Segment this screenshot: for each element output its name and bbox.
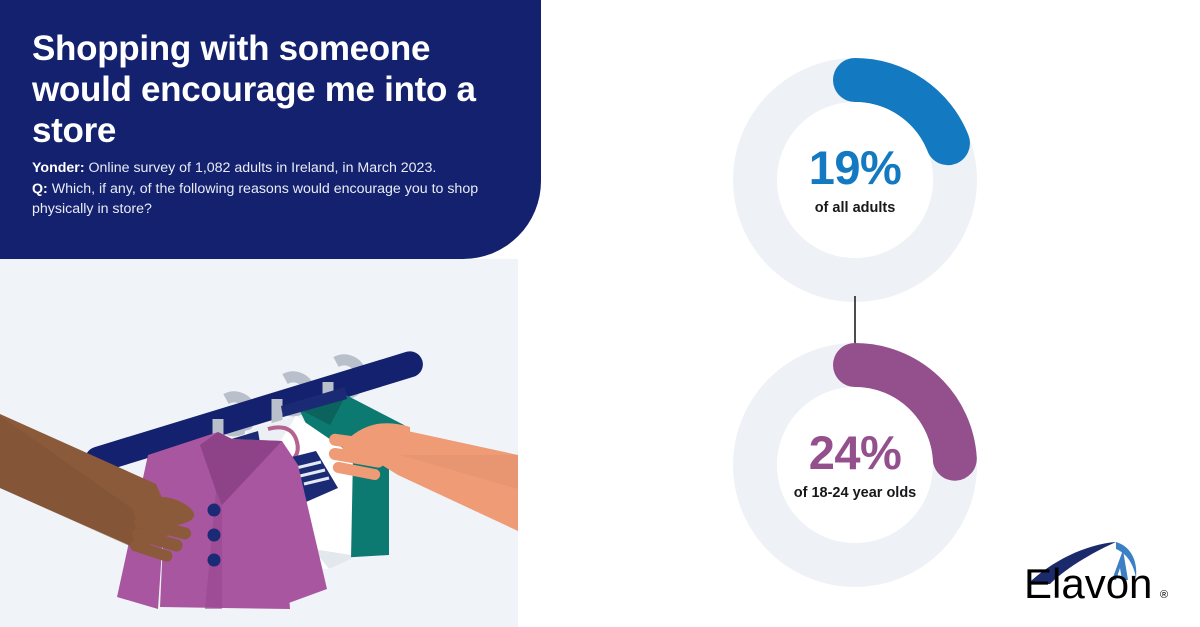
clothes-rail-illustration (0, 259, 518, 627)
elavon-logo: Elavon ® (1024, 540, 1176, 602)
headline-panel: Shopping with someone would encourage me… (0, 0, 541, 259)
survey-methodology: Yonder: Online survey of 1,082 adults in… (32, 158, 484, 220)
donut-hole (777, 387, 933, 543)
donut-chart-all-adults: 19% of all adults (733, 58, 977, 302)
donut-young-svg (733, 343, 977, 587)
survey-question-label: Q: (32, 181, 48, 197)
survey-source-line: Yonder: Online survey of 1,082 adults in… (32, 158, 484, 179)
elavon-logo-svg: Elavon ® (1024, 540, 1176, 602)
donut-hole (777, 102, 933, 258)
logo-wordmark: Elavon (1024, 560, 1152, 602)
donut-chart-18-24: 24% of 18-24 year olds (733, 343, 977, 587)
infographic-canvas: Shopping with someone would encourage me… (0, 0, 1200, 627)
illustration-panel (0, 259, 518, 627)
logo-trademark: ® (1160, 589, 1168, 601)
cardigan-buttons-icon (208, 504, 221, 567)
survey-question-line: Q: Which, if any, of the following reaso… (32, 179, 484, 220)
page-title: Shopping with someone would encourage me… (32, 28, 502, 151)
donut-adults-svg (733, 58, 977, 302)
survey-source-label: Yonder: (32, 160, 85, 176)
survey-source-text: Online survey of 1,082 adults in Ireland… (85, 160, 437, 176)
survey-question-text: Which, if any, of the following reasons … (32, 181, 478, 218)
